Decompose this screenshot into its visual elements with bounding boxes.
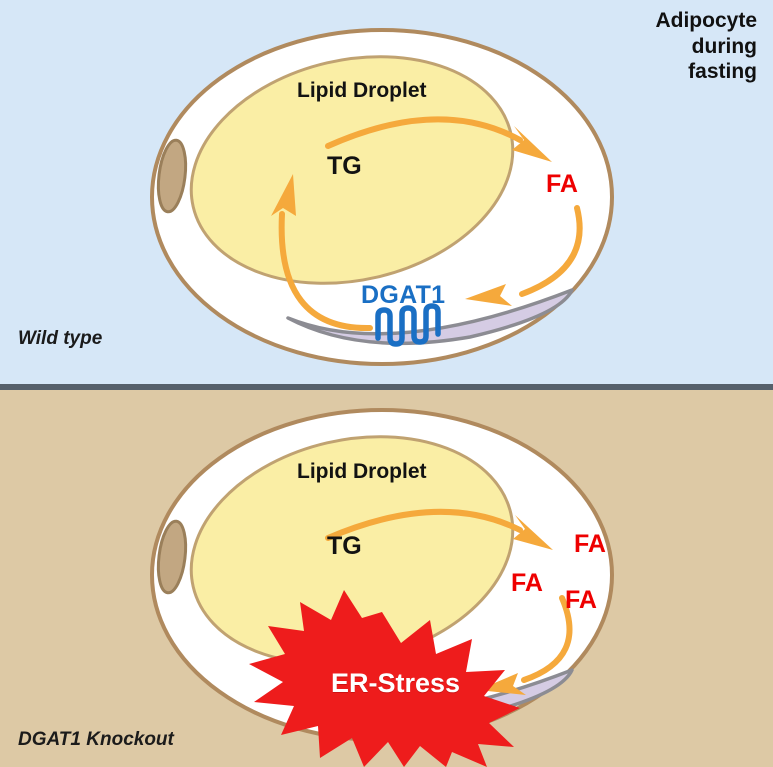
- wt-dgat1-label: DGAT1: [361, 281, 445, 310]
- ko-fa-label-2: FA: [511, 569, 543, 598]
- title-line-1: Adipocyte: [557, 8, 757, 34]
- title-line-3: fasting: [557, 59, 757, 85]
- ko-fa-label-1: FA: [574, 530, 606, 559]
- ko-fa-label-3: FA: [565, 586, 597, 615]
- panel-dgat1-knockout: Lipid Droplet TG FA FA FA ER-Stress DGAT…: [0, 390, 773, 767]
- dgat1-knockout-caption: DGAT1 Knockout: [18, 729, 174, 751]
- wt-lipid-droplet-label: Lipid Droplet: [297, 79, 427, 103]
- panel-wild-type: Adipocyte during fasting Lipid Droplet T…: [0, 0, 773, 386]
- figure-container: Adipocyte during fasting Lipid Droplet T…: [0, 0, 773, 767]
- er-stress-label: ER-Stress: [331, 668, 460, 699]
- ko-lipid-droplet-label: Lipid Droplet: [297, 460, 427, 484]
- figure-title: Adipocyte during fasting: [557, 8, 757, 85]
- title-line-2: during: [557, 34, 757, 60]
- dgat1-knockout-diagram: [0, 390, 773, 767]
- wt-fa-label: FA: [546, 170, 578, 199]
- wild-type-caption: Wild type: [18, 328, 102, 350]
- wt-tg-label: TG: [327, 152, 362, 181]
- ko-tg-label: TG: [327, 532, 362, 561]
